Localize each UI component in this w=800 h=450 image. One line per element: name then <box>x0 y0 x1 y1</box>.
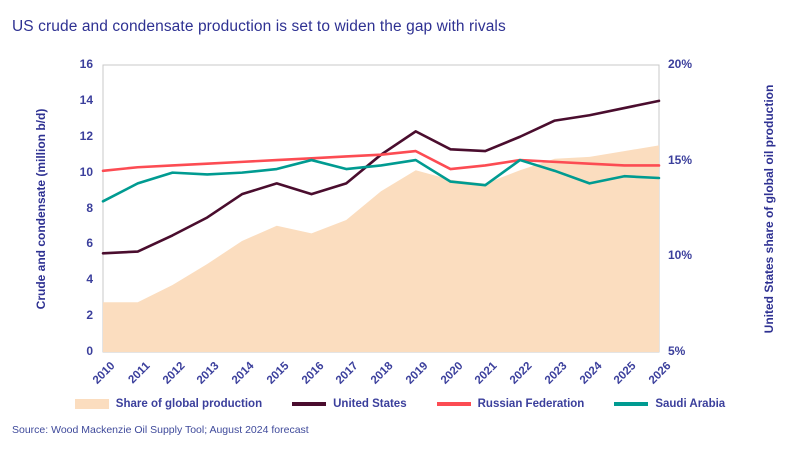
y-axis-title: Crude and condensate (million b/d) <box>34 108 48 309</box>
y2-axis-tick-label: 10% <box>668 248 692 262</box>
y2-axis-tick-label: 5% <box>668 344 685 358</box>
legend-label: Share of global production <box>116 398 262 410</box>
chart-legend: Share of global productionUnited StatesR… <box>0 398 800 410</box>
y-axis-tick-label: 6 <box>55 236 93 250</box>
chart-figure: US crude and condensate production is se… <box>0 0 800 450</box>
series-area-share-of-global-production <box>103 145 659 352</box>
y-axis-tick-label: 2 <box>55 308 93 322</box>
y-axis-tick-label: 12 <box>55 129 93 143</box>
y2-axis-tick-label: 20% <box>668 57 692 71</box>
y-axis-tick-label: 0 <box>55 344 93 358</box>
y-axis-tick-label: 16 <box>55 57 93 71</box>
y-axis-tick-label: 4 <box>55 272 93 286</box>
legend-label: Russian Federation <box>478 398 585 410</box>
y-axis-tick-label: 14 <box>55 93 93 107</box>
legend-label: Saudi Arabia <box>655 398 725 410</box>
y2-axis-tick-label: 15% <box>668 153 692 167</box>
legend-item[interactable]: Russian Federation <box>437 398 585 410</box>
y-axis-tick-label: 10 <box>55 165 93 179</box>
legend-item[interactable]: Share of global production <box>75 398 262 410</box>
legend-swatch-icon <box>75 399 109 409</box>
source-note: Source: Wood Mackenzie Oil Supply Tool; … <box>12 424 309 436</box>
legend-item[interactable]: United States <box>292 398 407 410</box>
legend-label: United States <box>333 398 407 410</box>
legend-swatch-icon <box>292 402 326 406</box>
legend-swatch-icon <box>437 402 471 406</box>
legend-swatch-icon <box>614 402 648 406</box>
legend-item[interactable]: Saudi Arabia <box>614 398 725 410</box>
y-axis-tick-label: 8 <box>55 201 93 215</box>
y2-axis-title: United States share of global oil produc… <box>762 84 776 333</box>
